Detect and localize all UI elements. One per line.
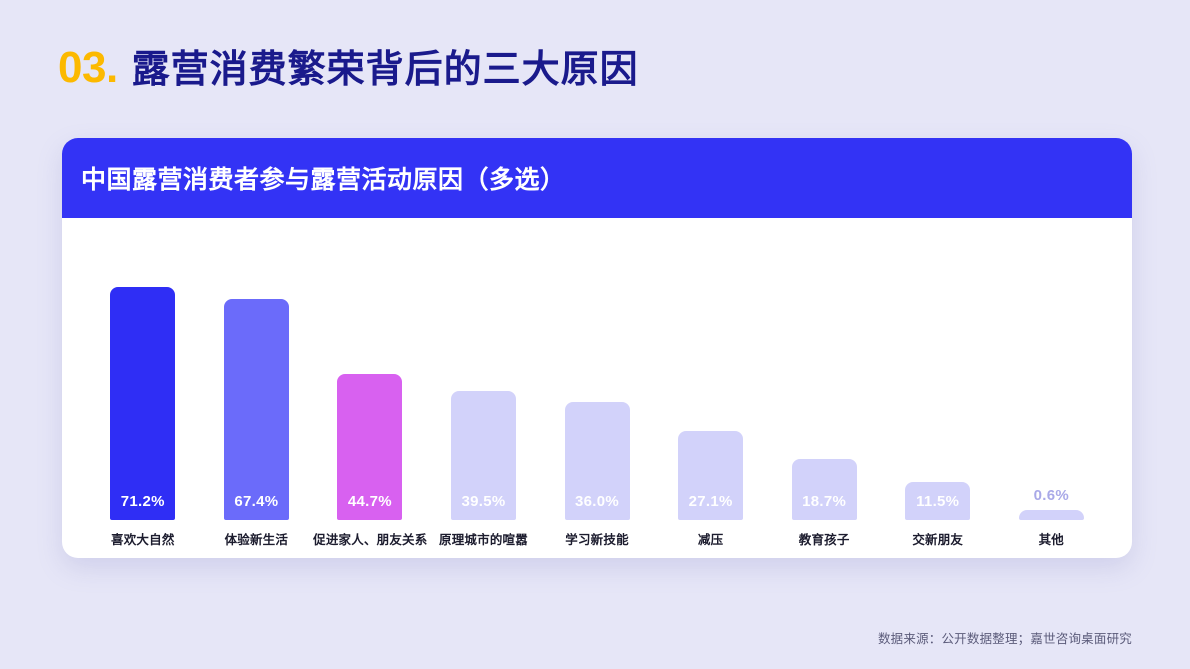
bar-category-label: 其他 — [995, 529, 1109, 548]
bar-group[interactable]: 36.0%学习新技能 — [540, 238, 654, 558]
bar-value-label: 18.7% — [802, 493, 846, 520]
bar-value-label: 39.5% — [461, 493, 505, 520]
bar-column: 39.5% — [427, 238, 541, 558]
bar[interactable]: 71.2% — [110, 287, 175, 520]
bar-value-label: 71.2% — [121, 493, 165, 520]
bar-group[interactable]: 44.7%促进家人、朋友关系 — [313, 238, 427, 558]
bar-value-label: 11.5% — [916, 493, 959, 520]
bar-column: 11.5% — [881, 238, 995, 558]
bar[interactable]: 18.7% — [792, 459, 857, 520]
page-title: 03. 露营消费繁荣背后的三大原因 — [58, 38, 639, 93]
bar-value-label: 67.4% — [234, 493, 278, 520]
bar-category-label: 减压 — [654, 529, 768, 548]
bar-value-label: 0.6% — [1034, 487, 1069, 504]
bar-chart: 71.2%喜欢大自然67.4%体验新生活44.7%促进家人、朋友关系39.5%原… — [62, 218, 1132, 558]
bar-column: 27.1% — [654, 238, 768, 558]
bar-column: 36.0% — [540, 238, 654, 558]
bar-category-label: 教育孩子 — [767, 529, 881, 548]
bar-value-label: 36.0% — [575, 493, 619, 520]
bar-value-label: 27.1% — [689, 493, 733, 520]
bar-category-label: 原理城市的喧嚣 — [427, 529, 541, 548]
bar-group[interactable]: 18.7%教育孩子 — [767, 238, 881, 558]
bar[interactable]: 11.5% — [905, 482, 970, 520]
bar-group[interactable]: 0.6%其他 — [995, 238, 1109, 558]
bar-column: 71.2% — [86, 238, 200, 558]
bar-column: 0.6% — [995, 238, 1109, 558]
bar-group[interactable]: 39.5%原理城市的喧嚣 — [427, 238, 541, 558]
data-source-note: 数据来源：公开数据整理；嘉世咨询桌面研究 — [878, 628, 1132, 647]
section-heading: 露营消费繁荣背后的三大原因 — [132, 38, 639, 93]
bar[interactable]: 36.0% — [565, 402, 630, 520]
bar[interactable]: 27.1% — [678, 431, 743, 520]
bar-category-label: 交新朋友 — [881, 529, 995, 548]
bar-group[interactable]: 67.4%体验新生活 — [200, 238, 314, 558]
bar-column: 44.7% — [313, 238, 427, 558]
bar-column: 67.4% — [200, 238, 314, 558]
bar[interactable]: 0.6% — [1019, 510, 1084, 520]
section-number: 03. — [58, 43, 118, 93]
bar[interactable]: 39.5% — [451, 391, 516, 520]
bar-group[interactable]: 11.5%交新朋友 — [881, 238, 995, 558]
bar[interactable]: 44.7% — [337, 374, 402, 520]
bar[interactable]: 67.4% — [224, 299, 289, 520]
bar-column: 18.7% — [767, 238, 881, 558]
chart-title: 中国露营消费者参与露营活动原因（多选） — [81, 160, 566, 196]
bar-value-label: 44.7% — [348, 493, 392, 520]
chart-card-header: 中国露营消费者参与露营活动原因（多选） — [62, 138, 1132, 218]
bar-chart-plot-area: 71.2%喜欢大自然67.4%体验新生活44.7%促进家人、朋友关系39.5%原… — [86, 238, 1108, 558]
bar-category-label: 喜欢大自然 — [86, 529, 200, 548]
bar-category-label: 学习新技能 — [540, 529, 654, 548]
bar-group[interactable]: 71.2%喜欢大自然 — [86, 238, 200, 558]
bar-category-label: 促进家人、朋友关系 — [313, 529, 427, 548]
chart-card: 中国露营消费者参与露营活动原因（多选） 71.2%喜欢大自然67.4%体验新生活… — [62, 138, 1132, 558]
bar-category-label: 体验新生活 — [200, 529, 314, 548]
bar-group[interactable]: 27.1%减压 — [654, 238, 768, 558]
